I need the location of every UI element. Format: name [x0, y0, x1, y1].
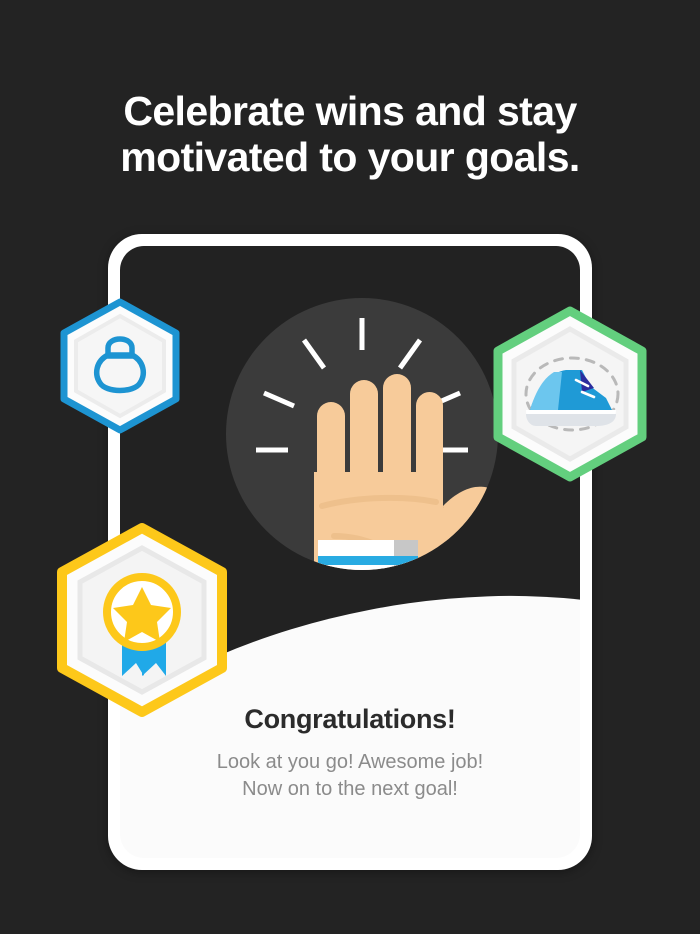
hand-illustration [210, 292, 510, 664]
award-medal-badge[interactable] [52, 522, 232, 718]
running-shoe-icon [490, 306, 650, 482]
running-shoe-badge[interactable] [490, 306, 650, 482]
onboarding-screen: Celebrate wins and stay motivated to you… [0, 0, 700, 934]
kettlebell-badge[interactable] [58, 298, 182, 434]
star-medal-ribbon-icon [52, 522, 232, 718]
page-headline: Celebrate wins and stay motivated to you… [0, 89, 700, 181]
kettlebell-icon [58, 298, 182, 434]
raised-hand-icon [210, 292, 510, 664]
card-text-block: Congratulations! Look at you go! Awesome… [120, 704, 580, 803]
congratulations-body: Look at you go! Awesome job! Now on to t… [120, 749, 580, 803]
